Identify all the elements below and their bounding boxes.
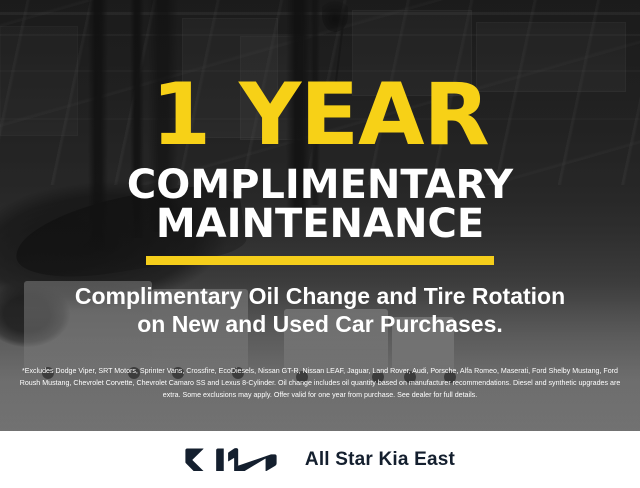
headline-maintenance: MAINTENANCE [156,204,484,245]
footer-bar: All Star Kia East [0,431,640,488]
kia-logo [185,448,277,471]
offer-line-2: on New and Used Car Purchases. [75,310,565,339]
yellow-divider-rule [146,256,494,265]
disclaimer-fine-print: *Excludes Dodge Viper, SRT Motors, Sprin… [11,365,629,402]
headline-complimentary: COMPLIMENTARY [127,165,513,206]
offer-description: Complimentary Oil Change and Tire Rotati… [75,282,565,339]
dealer-name: All Star Kia East [305,449,455,471]
offer-line-1: Complimentary Oil Change and Tire Rotati… [75,282,565,311]
promotional-banner: 1 YEAR COMPLIMENTARY MAINTENANCE Complim… [0,0,640,488]
banner-content: 1 YEAR COMPLIMENTARY MAINTENANCE Complim… [0,0,640,488]
headline-year: 1 YEAR [151,76,489,155]
